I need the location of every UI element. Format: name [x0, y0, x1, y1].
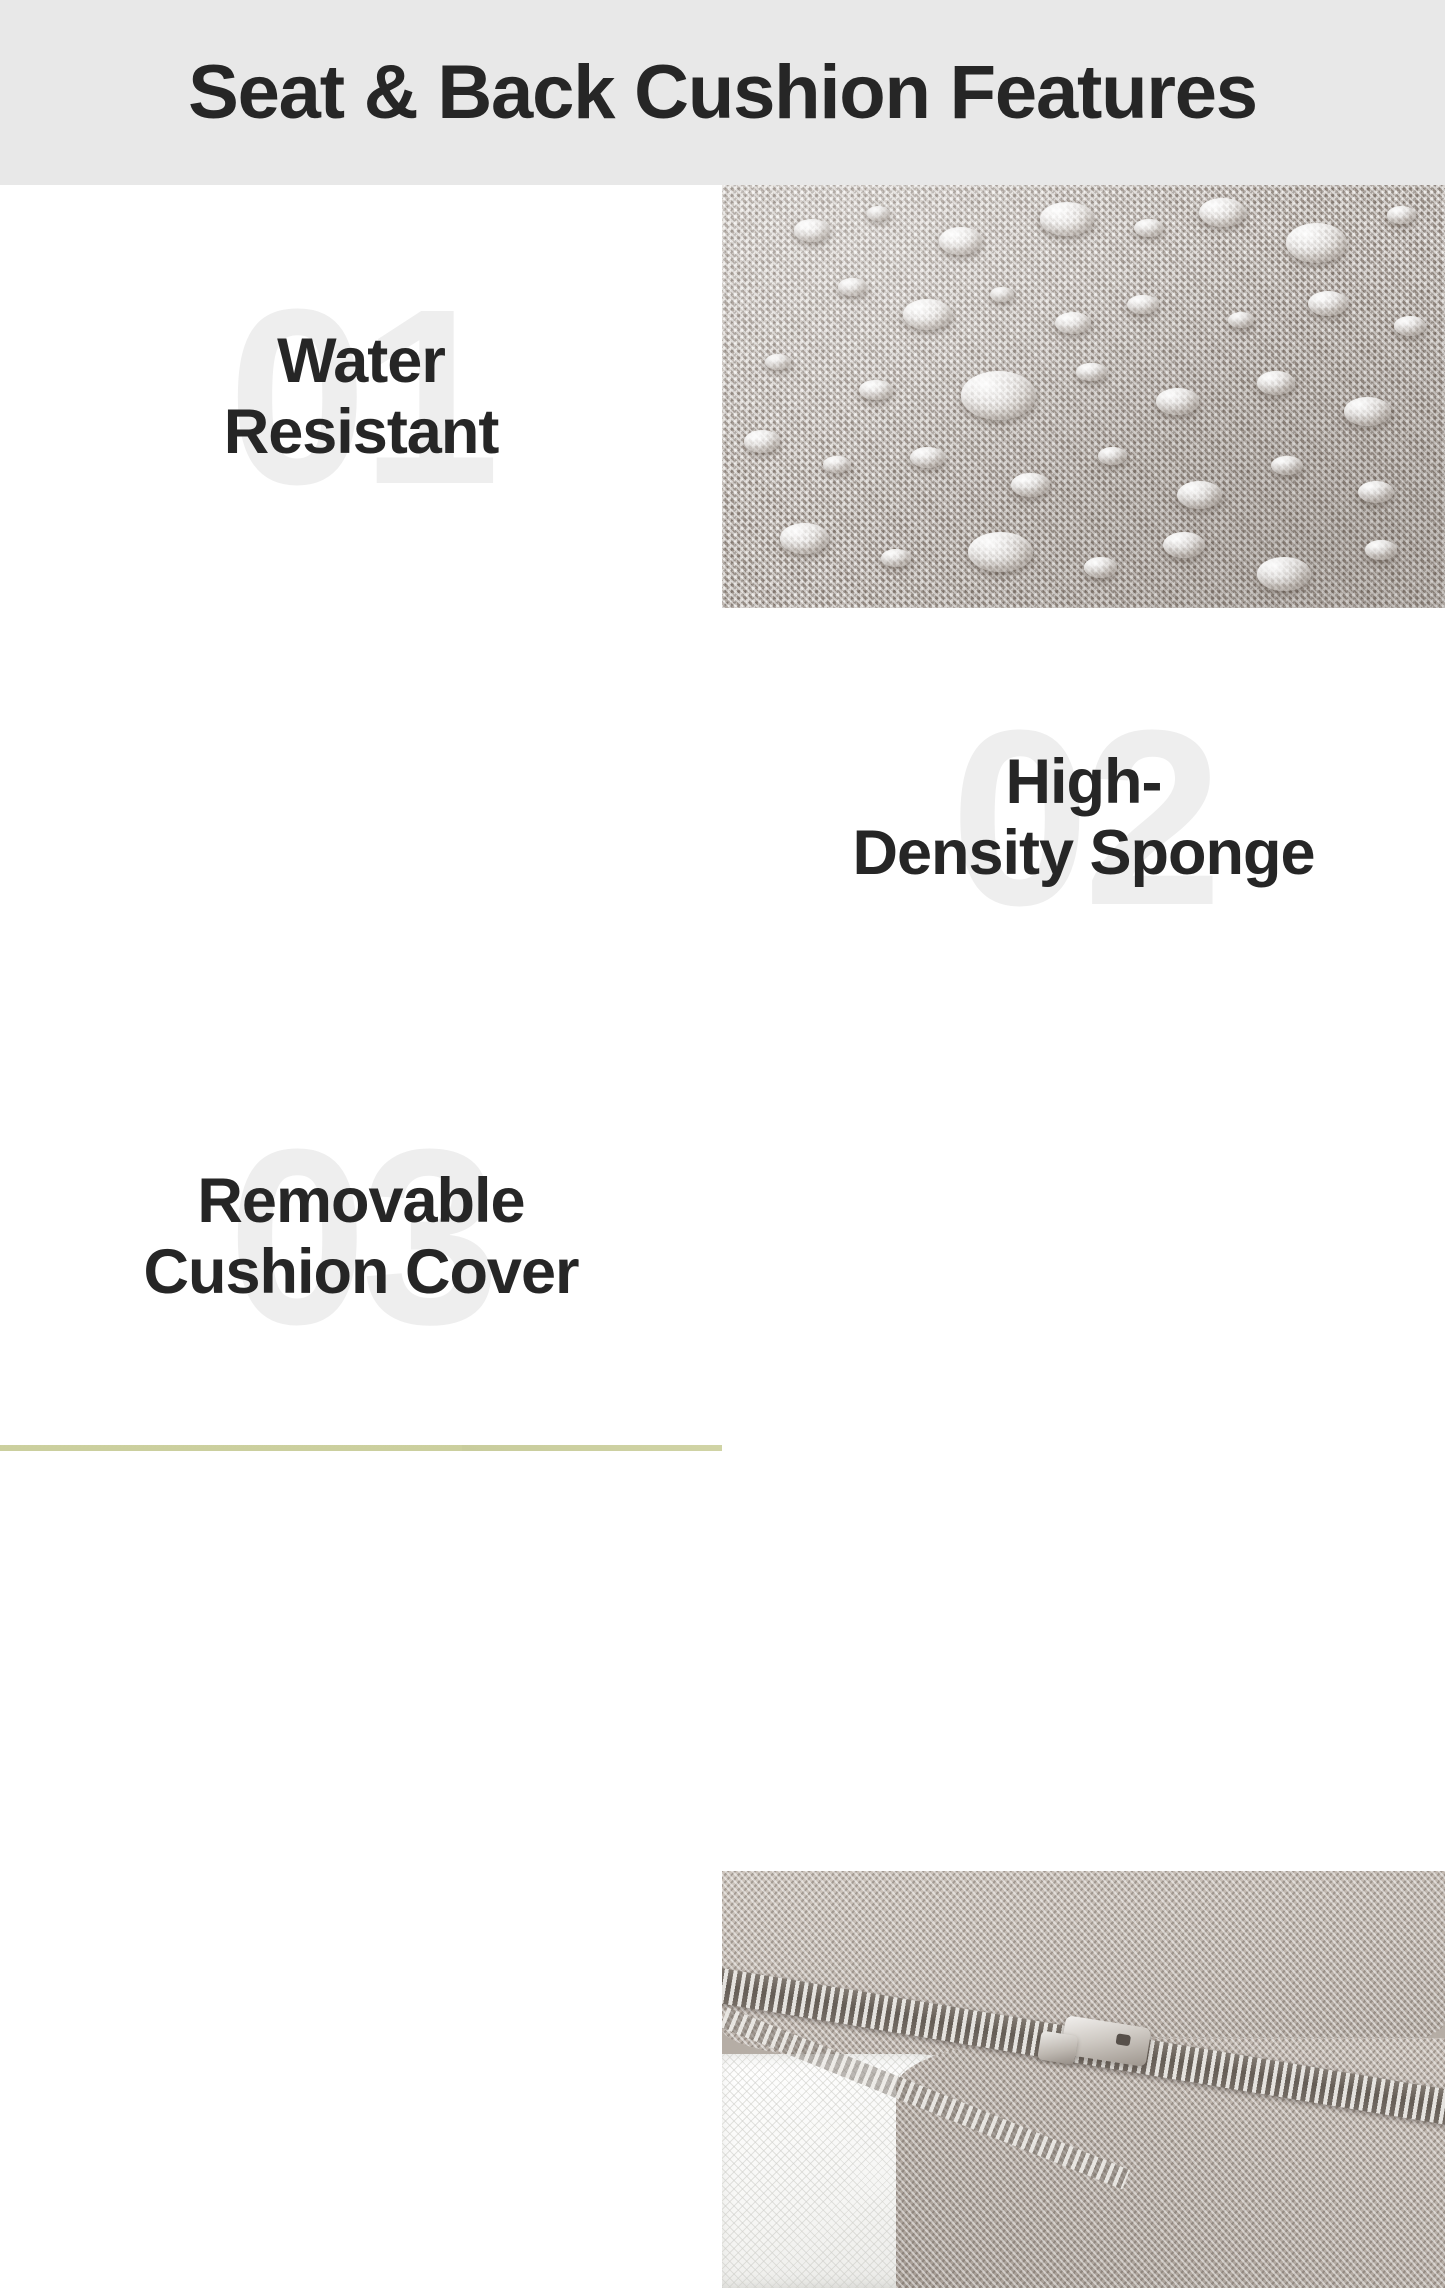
water-droplet [780, 523, 829, 553]
water-droplet [1257, 371, 1295, 395]
feature-text-cell-02: 02 High- Density Sponge [722, 608, 1445, 1028]
feature-text-wrap-01: 01 Water Resistant [224, 326, 499, 467]
feature-title-01: Water Resistant [224, 326, 499, 467]
water-droplet [1098, 447, 1127, 465]
header-banner: Seat & Back Cushion Features [0, 0, 1445, 185]
water-droplet [744, 430, 780, 453]
water-droplet [838, 278, 867, 296]
water-droplet [1308, 291, 1348, 316]
water-droplet [903, 299, 952, 329]
water-droplet [859, 380, 892, 400]
water-droplet [1199, 198, 1246, 228]
water-droplet [939, 227, 982, 254]
feature-text-wrap-03: 03 Removable Cushion Cover [143, 1166, 578, 1307]
water-droplet [968, 532, 1033, 572]
feature-grid: 01 Water Resistant [0, 185, 1445, 1445]
water-droplet [1156, 388, 1199, 415]
water-droplet [1040, 202, 1094, 236]
water-droplet [1127, 295, 1159, 314]
water-droplet [867, 206, 890, 220]
feature-text-cell-01: 01 Water Resistant [0, 185, 722, 608]
water-droplet [1055, 312, 1091, 334]
water-droplet [1257, 557, 1311, 591]
water-droplet [823, 456, 850, 473]
feature-infographic: Seat & Back Cushion Features 01 Water Re… [0, 0, 1445, 1445]
water-droplet [1177, 481, 1222, 509]
feature-title-03: Removable Cushion Cover [143, 1166, 578, 1307]
water-droplet [990, 287, 1015, 302]
feature-text-wrap-02: 02 High- Density Sponge [852, 747, 1314, 888]
water-resistant-photo [722, 185, 1445, 608]
zipper-pull-tab [1037, 2030, 1078, 2064]
water-droplet [1076, 363, 1106, 382]
feature-text-cell-03: 03 Removable Cushion Cover [0, 1028, 722, 1445]
removable-cover-photo [722, 1871, 1445, 2288]
water-droplet [1228, 312, 1254, 328]
page-title: Seat & Back Cushion Features [188, 55, 1257, 131]
water-droplet [1387, 206, 1416, 224]
zipper-slider-hole [1116, 2033, 1131, 2047]
water-droplet [1163, 532, 1205, 558]
water-droplet [1084, 557, 1117, 577]
water-droplet [1394, 316, 1426, 335]
feature-title-02: High- Density Sponge [852, 747, 1314, 888]
water-droplet [1011, 473, 1050, 498]
water-droplet [1365, 540, 1397, 559]
water-droplet [961, 371, 1037, 420]
